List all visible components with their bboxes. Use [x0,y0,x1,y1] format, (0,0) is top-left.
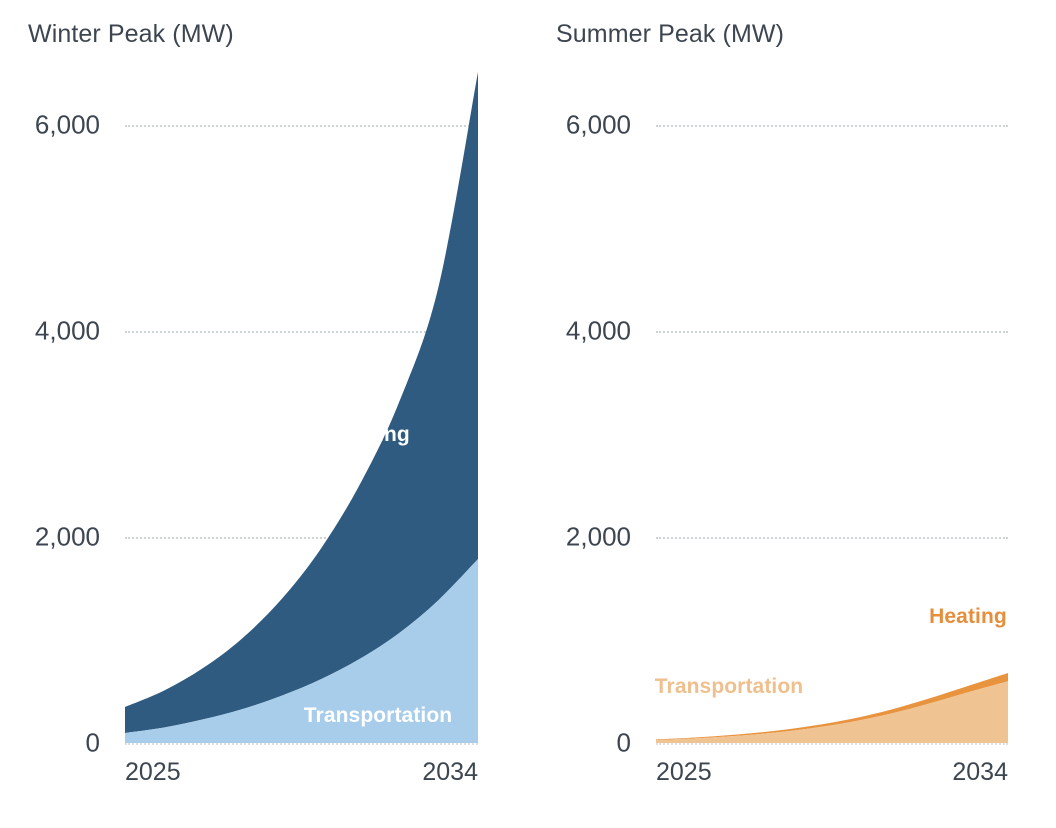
ytick-summer-4000: 4,000 [531,316,631,347]
ytick-winter-0: 0 [0,728,100,759]
plot-area-summer [656,60,1008,760]
series-label-winter-heating: Heating [332,423,410,447]
ytick-summer-6000: 6,000 [531,110,631,141]
series-label-summer-heating: Heating [929,605,1007,629]
ytick-winter-2000: 2,000 [0,522,100,553]
ytick-summer-2000: 2,000 [531,522,631,553]
series-label-summer-transportation: Transportation [655,675,803,699]
xtick-winter-end: 2034 [422,758,478,787]
panel-summer-peak: Summer Peak (MW) 6,000 4,000 2,000 0 [528,0,1056,828]
ytick-winter-4000: 4,000 [0,316,100,347]
chart-page: Winter Peak (MW) 6,000 4,000 2,000 0 Hea… [0,0,1056,828]
plot-area-winter [125,60,478,760]
panel-title-summer: Summer Peak (MW) [556,20,784,49]
ytick-winter-6000: 6,000 [0,110,100,141]
series-label-winter-transportation: Transportation [304,704,452,728]
winter-area-svg [125,60,478,760]
panel-title-winter: Winter Peak (MW) [28,20,234,49]
xtick-winter-start: 2025 [125,758,181,787]
ytick-summer-0: 0 [531,728,631,759]
summer-area-svg [656,60,1008,760]
panel-winter-peak: Winter Peak (MW) 6,000 4,000 2,000 0 Hea… [0,0,528,828]
